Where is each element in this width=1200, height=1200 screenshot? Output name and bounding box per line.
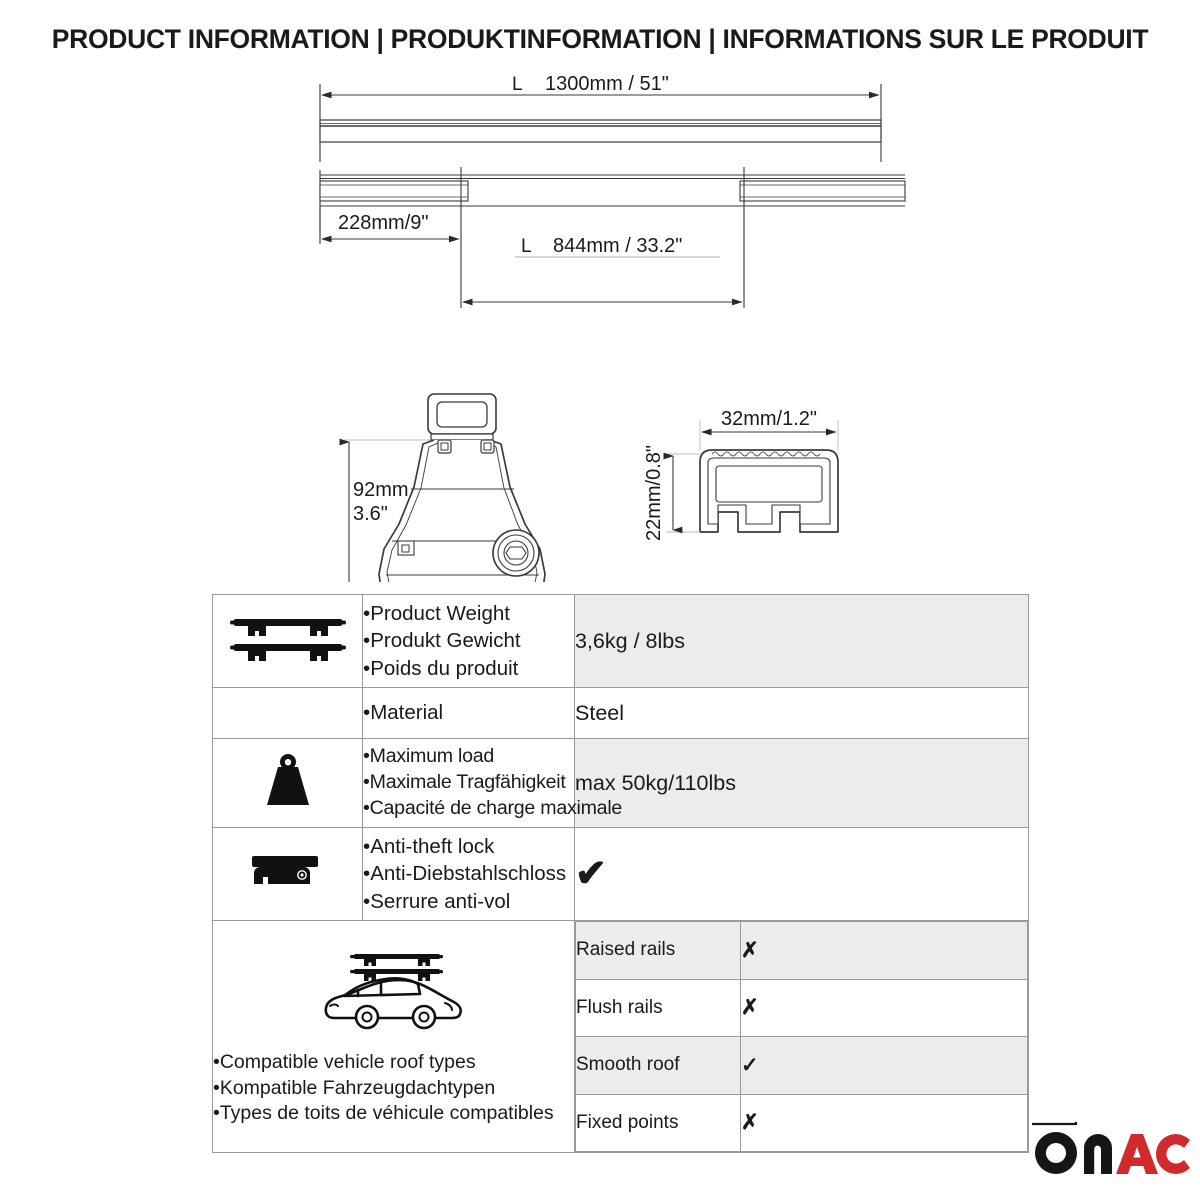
crossbars-pair-icon-cell xyxy=(213,595,363,688)
label-line: Produkt Gewicht xyxy=(370,629,520,652)
table-row-compatibility: •Compatible vehicle roof types •Kompatib… xyxy=(213,921,1029,1153)
row-label-max-load: •Maximum load •Maximale Tragfähigkeit •C… xyxy=(363,739,575,828)
roof-type-name: Fixed points xyxy=(576,1094,741,1152)
row-value-product-weight: 3,6kg / 8lbs xyxy=(575,595,1029,688)
roof-type-row-flush-rails: Flush rails ✗ xyxy=(576,979,1028,1037)
roof-type-mark: ✗ xyxy=(741,979,1028,1037)
page-title: PRODUCT INFORMATION | PRODUKTINFORMATION… xyxy=(0,24,1200,55)
foot-offset-value: 228mm/9" xyxy=(338,212,428,234)
lock-bar-icon xyxy=(250,850,326,894)
roof-type-name: Raised rails xyxy=(576,922,741,980)
car-with-roof-rack-icon xyxy=(314,946,474,1038)
specification-table: •Product Weight •Produkt Gewicht •Poids … xyxy=(212,594,1029,1153)
label-line: Serrure anti-vol xyxy=(370,890,510,913)
label-line: Product Weight xyxy=(370,602,510,625)
compatibility-labels: •Compatible vehicle roof types •Kompatib… xyxy=(213,1050,574,1128)
label-line: Poids du produit xyxy=(370,657,518,680)
technical-drawings: L 1300mm / 51" 228mm/9" L 844mm / 33.2" … xyxy=(0,62,1200,582)
material-icon-cell xyxy=(213,688,363,739)
roof-type-mark: ✗ xyxy=(741,922,1028,980)
label-line: Anti-theft lock xyxy=(370,835,494,858)
foot-spacing-prefix: L xyxy=(521,236,532,257)
row-value-max-load: max 50kg/110lbs xyxy=(575,739,1029,828)
weight-icon xyxy=(258,752,318,810)
roof-type-row-raised-rails: Raised rails ✗ xyxy=(576,922,1028,980)
omac-logo-svg xyxy=(1032,1122,1192,1178)
roof-types-cell: Raised rails ✗ Flush rails ✗ Smooth roof… xyxy=(575,921,1029,1153)
roof-type-mark: ✓ xyxy=(741,1037,1028,1095)
compatibility-label-cell: •Compatible vehicle roof types •Kompatib… xyxy=(213,921,575,1153)
bar-length-value: 1300mm / 51" xyxy=(545,73,669,95)
omac-logo xyxy=(1032,1122,1192,1178)
foot-spacing-value: 844mm / 33.2" xyxy=(553,235,682,257)
roof-type-row-smooth-roof: Smooth roof ✓ xyxy=(576,1037,1028,1095)
profile-height-value: 22mm/0.8" xyxy=(643,445,665,541)
label-line: Kompatible Fahrzeugdachtypen xyxy=(220,1077,495,1099)
label-line: Capacité de charge maximale xyxy=(370,797,622,819)
table-row: •Maximum load •Maximale Tragfähigkeit •C… xyxy=(213,739,1029,828)
row-label-anti-theft: •Anti-theft lock •Anti-Diebstahlschloss … xyxy=(363,828,575,921)
table-row: •Product Weight •Produkt Gewicht •Poids … xyxy=(213,595,1029,688)
foot-height-line1: 92mm xyxy=(353,479,409,501)
label-line: Maximum load xyxy=(370,745,494,767)
table-row: •Material Steel xyxy=(213,688,1029,739)
row-value-material: Steel xyxy=(575,688,1029,739)
row-value-anti-theft: ✔ xyxy=(575,828,1029,921)
bar-length-prefix: L xyxy=(512,74,523,95)
label-line: Material xyxy=(370,701,443,724)
label-line: Maximale Tragfähigkeit xyxy=(370,771,566,793)
table-row: •Anti-theft lock •Anti-Diebstahlschloss … xyxy=(213,828,1029,921)
row-label-material: •Material xyxy=(363,688,575,739)
foot-height-line2: 3.6" xyxy=(353,503,388,525)
roof-type-row-fixed-points: Fixed points ✗ xyxy=(576,1094,1028,1152)
roof-type-name: Smooth roof xyxy=(576,1037,741,1095)
row-label-product-weight: •Product Weight •Produkt Gewicht •Poids … xyxy=(363,595,575,688)
car-icon-wrap xyxy=(213,946,574,1046)
roof-types-table: Raised rails ✗ Flush rails ✗ Smooth roof… xyxy=(575,921,1028,1152)
roof-type-name: Flush rails xyxy=(576,979,741,1037)
label-line: Compatible vehicle roof types xyxy=(220,1051,476,1073)
profile-width-value: 32mm/1.2" xyxy=(721,408,817,430)
weight-icon-cell xyxy=(213,739,363,828)
roof-type-mark: ✗ xyxy=(741,1094,1028,1152)
lock-bar-icon-cell xyxy=(213,828,363,921)
label-line: Types de toits de véhicule compatibles xyxy=(220,1102,554,1124)
label-line: Anti-Diebstahlschloss xyxy=(370,862,566,885)
crossbars-pair-icon xyxy=(228,611,348,667)
